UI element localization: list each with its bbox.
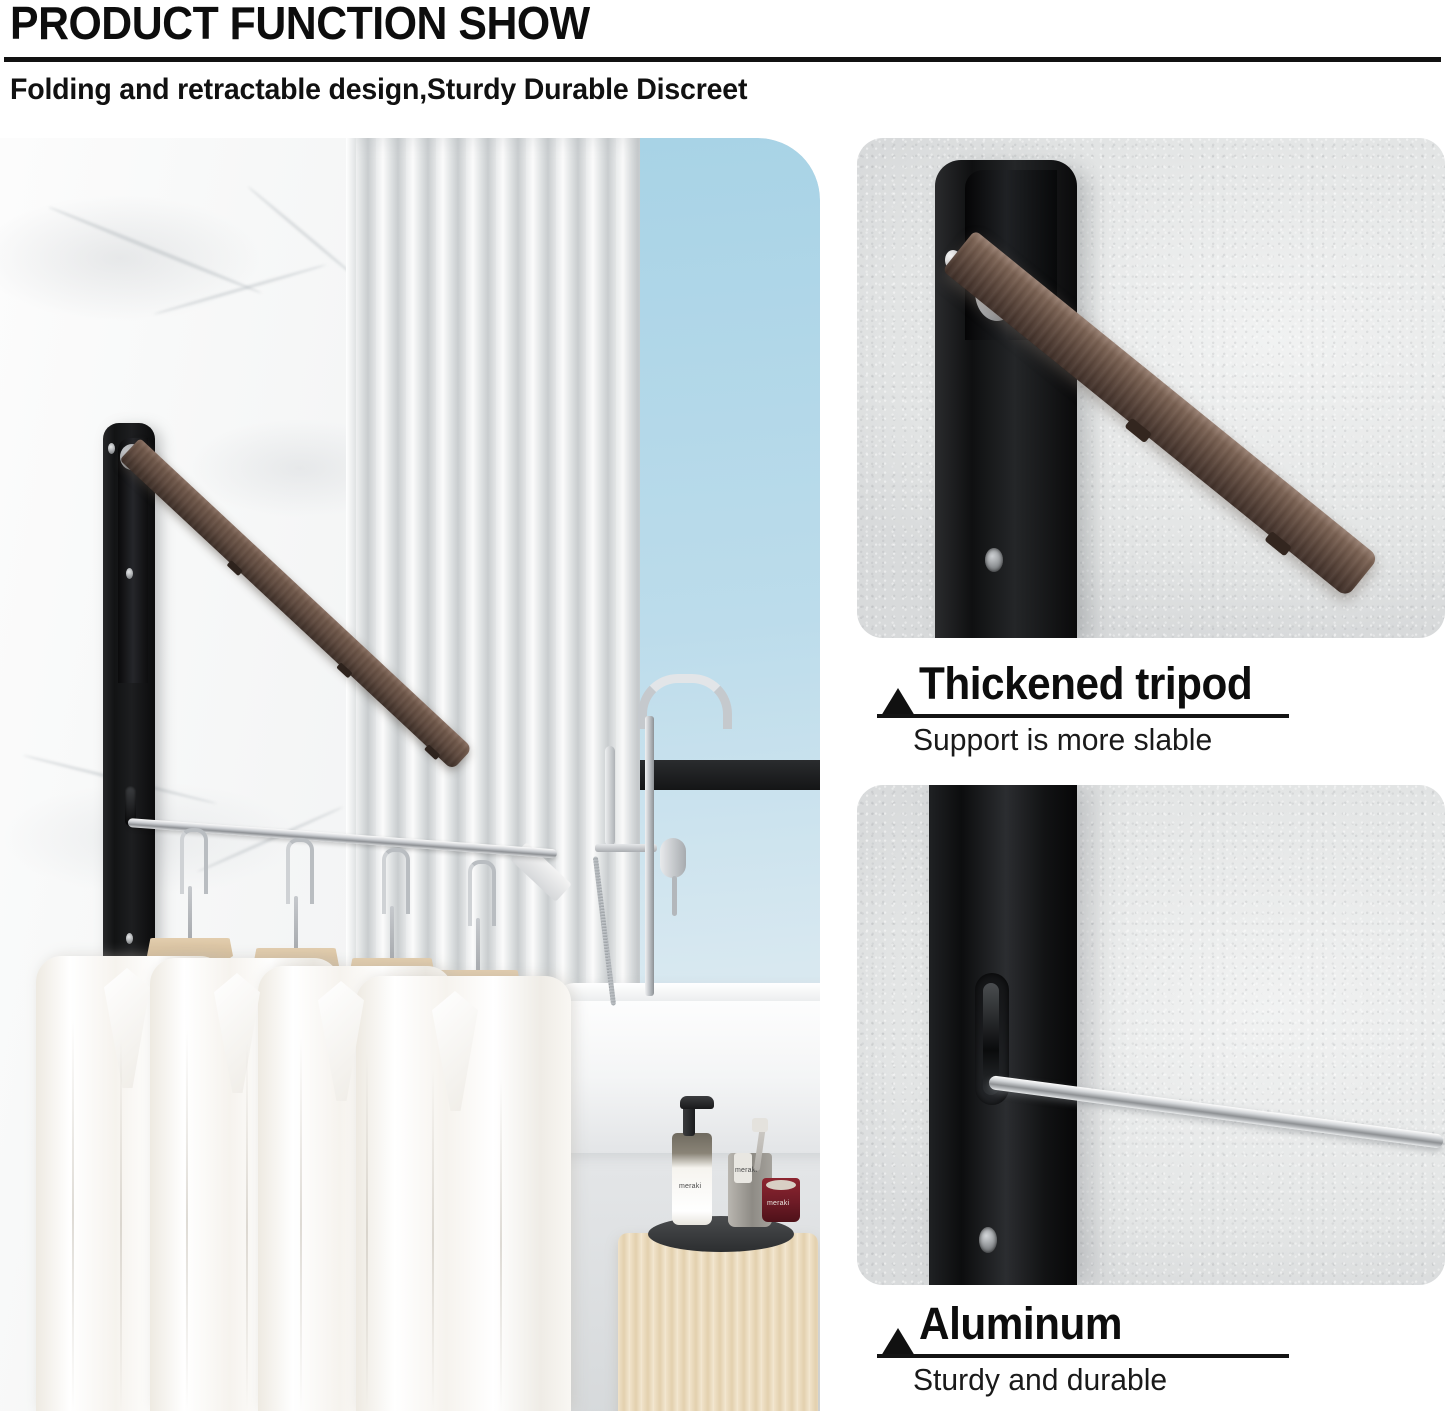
shirt-fold <box>120 1038 122 1411</box>
feature-photo-thickened-tripod <box>857 138 1445 638</box>
shirt-fold <box>186 1028 188 1411</box>
mounting-screw-bottom <box>985 548 1003 572</box>
window <box>640 138 820 1018</box>
candle-wax <box>766 1180 796 1190</box>
feature-caption-thickened-tripod: Thickened tripod Support is more slable <box>857 650 1445 770</box>
feature-subtitle: Sturdy and durable <box>913 1362 1167 1398</box>
caption-underline <box>877 714 1289 718</box>
hanger-wire <box>294 896 298 952</box>
feature-subtitle: Support is more slable <box>913 722 1212 758</box>
page-title: PRODUCT FUNCTION SHOW <box>10 0 590 50</box>
toothbrush-head <box>752 1118 768 1132</box>
hanger-hook <box>286 838 314 904</box>
faucet-lever <box>672 876 677 916</box>
page-header: PRODUCT FUNCTION SHOW Folding and retrac… <box>0 0 1445 130</box>
candle-label: meraki <box>767 1200 789 1207</box>
faucet-post <box>645 716 654 996</box>
page-subtitle: Folding and retractable design,Sturdy Du… <box>10 73 747 107</box>
shirt-fold <box>246 1043 248 1411</box>
title-divider <box>4 57 1441 62</box>
feature-title: Aluminum <box>919 1298 1122 1350</box>
triangle-bullet-icon <box>881 688 915 716</box>
bracket-screw-mid <box>126 568 133 579</box>
mounting-screw <box>979 1227 997 1253</box>
hanger-hook <box>468 860 496 926</box>
soap-pump-head <box>680 1096 714 1109</box>
bracket-screw-top <box>108 443 115 454</box>
soap-dispenser-bottle <box>672 1133 712 1225</box>
bathtub-rim <box>556 983 820 1001</box>
window-frame-bar <box>640 760 820 790</box>
hanger-wire <box>390 906 394 962</box>
caption-underline <box>877 1354 1289 1358</box>
triangle-bullet-icon <box>881 1328 915 1356</box>
hanger-hook <box>382 848 410 914</box>
hero-product-photo: meraki meraki meraki <box>0 138 820 1411</box>
bracket-screw-low <box>126 933 133 944</box>
hanger-wire <box>476 918 480 974</box>
shirt-fold <box>500 1078 502 1411</box>
bottle-label: meraki <box>679 1183 701 1190</box>
feature-photo-aluminum <box>857 785 1445 1285</box>
shirt-fold <box>300 1038 302 1411</box>
shirt-fold <box>366 1053 368 1411</box>
handheld-shower-wand <box>605 746 615 846</box>
shirt-fold <box>72 1018 74 1411</box>
faucet-valve <box>660 838 686 878</box>
wooden-stool <box>618 1233 818 1411</box>
feature-caption-aluminum: Aluminum Sturdy and durable <box>857 1290 1445 1411</box>
hanger-wire <box>188 886 192 942</box>
shirt-fold <box>432 1068 434 1411</box>
feature-title: Thickened tripod <box>919 658 1252 710</box>
hanger-hook <box>180 828 208 894</box>
